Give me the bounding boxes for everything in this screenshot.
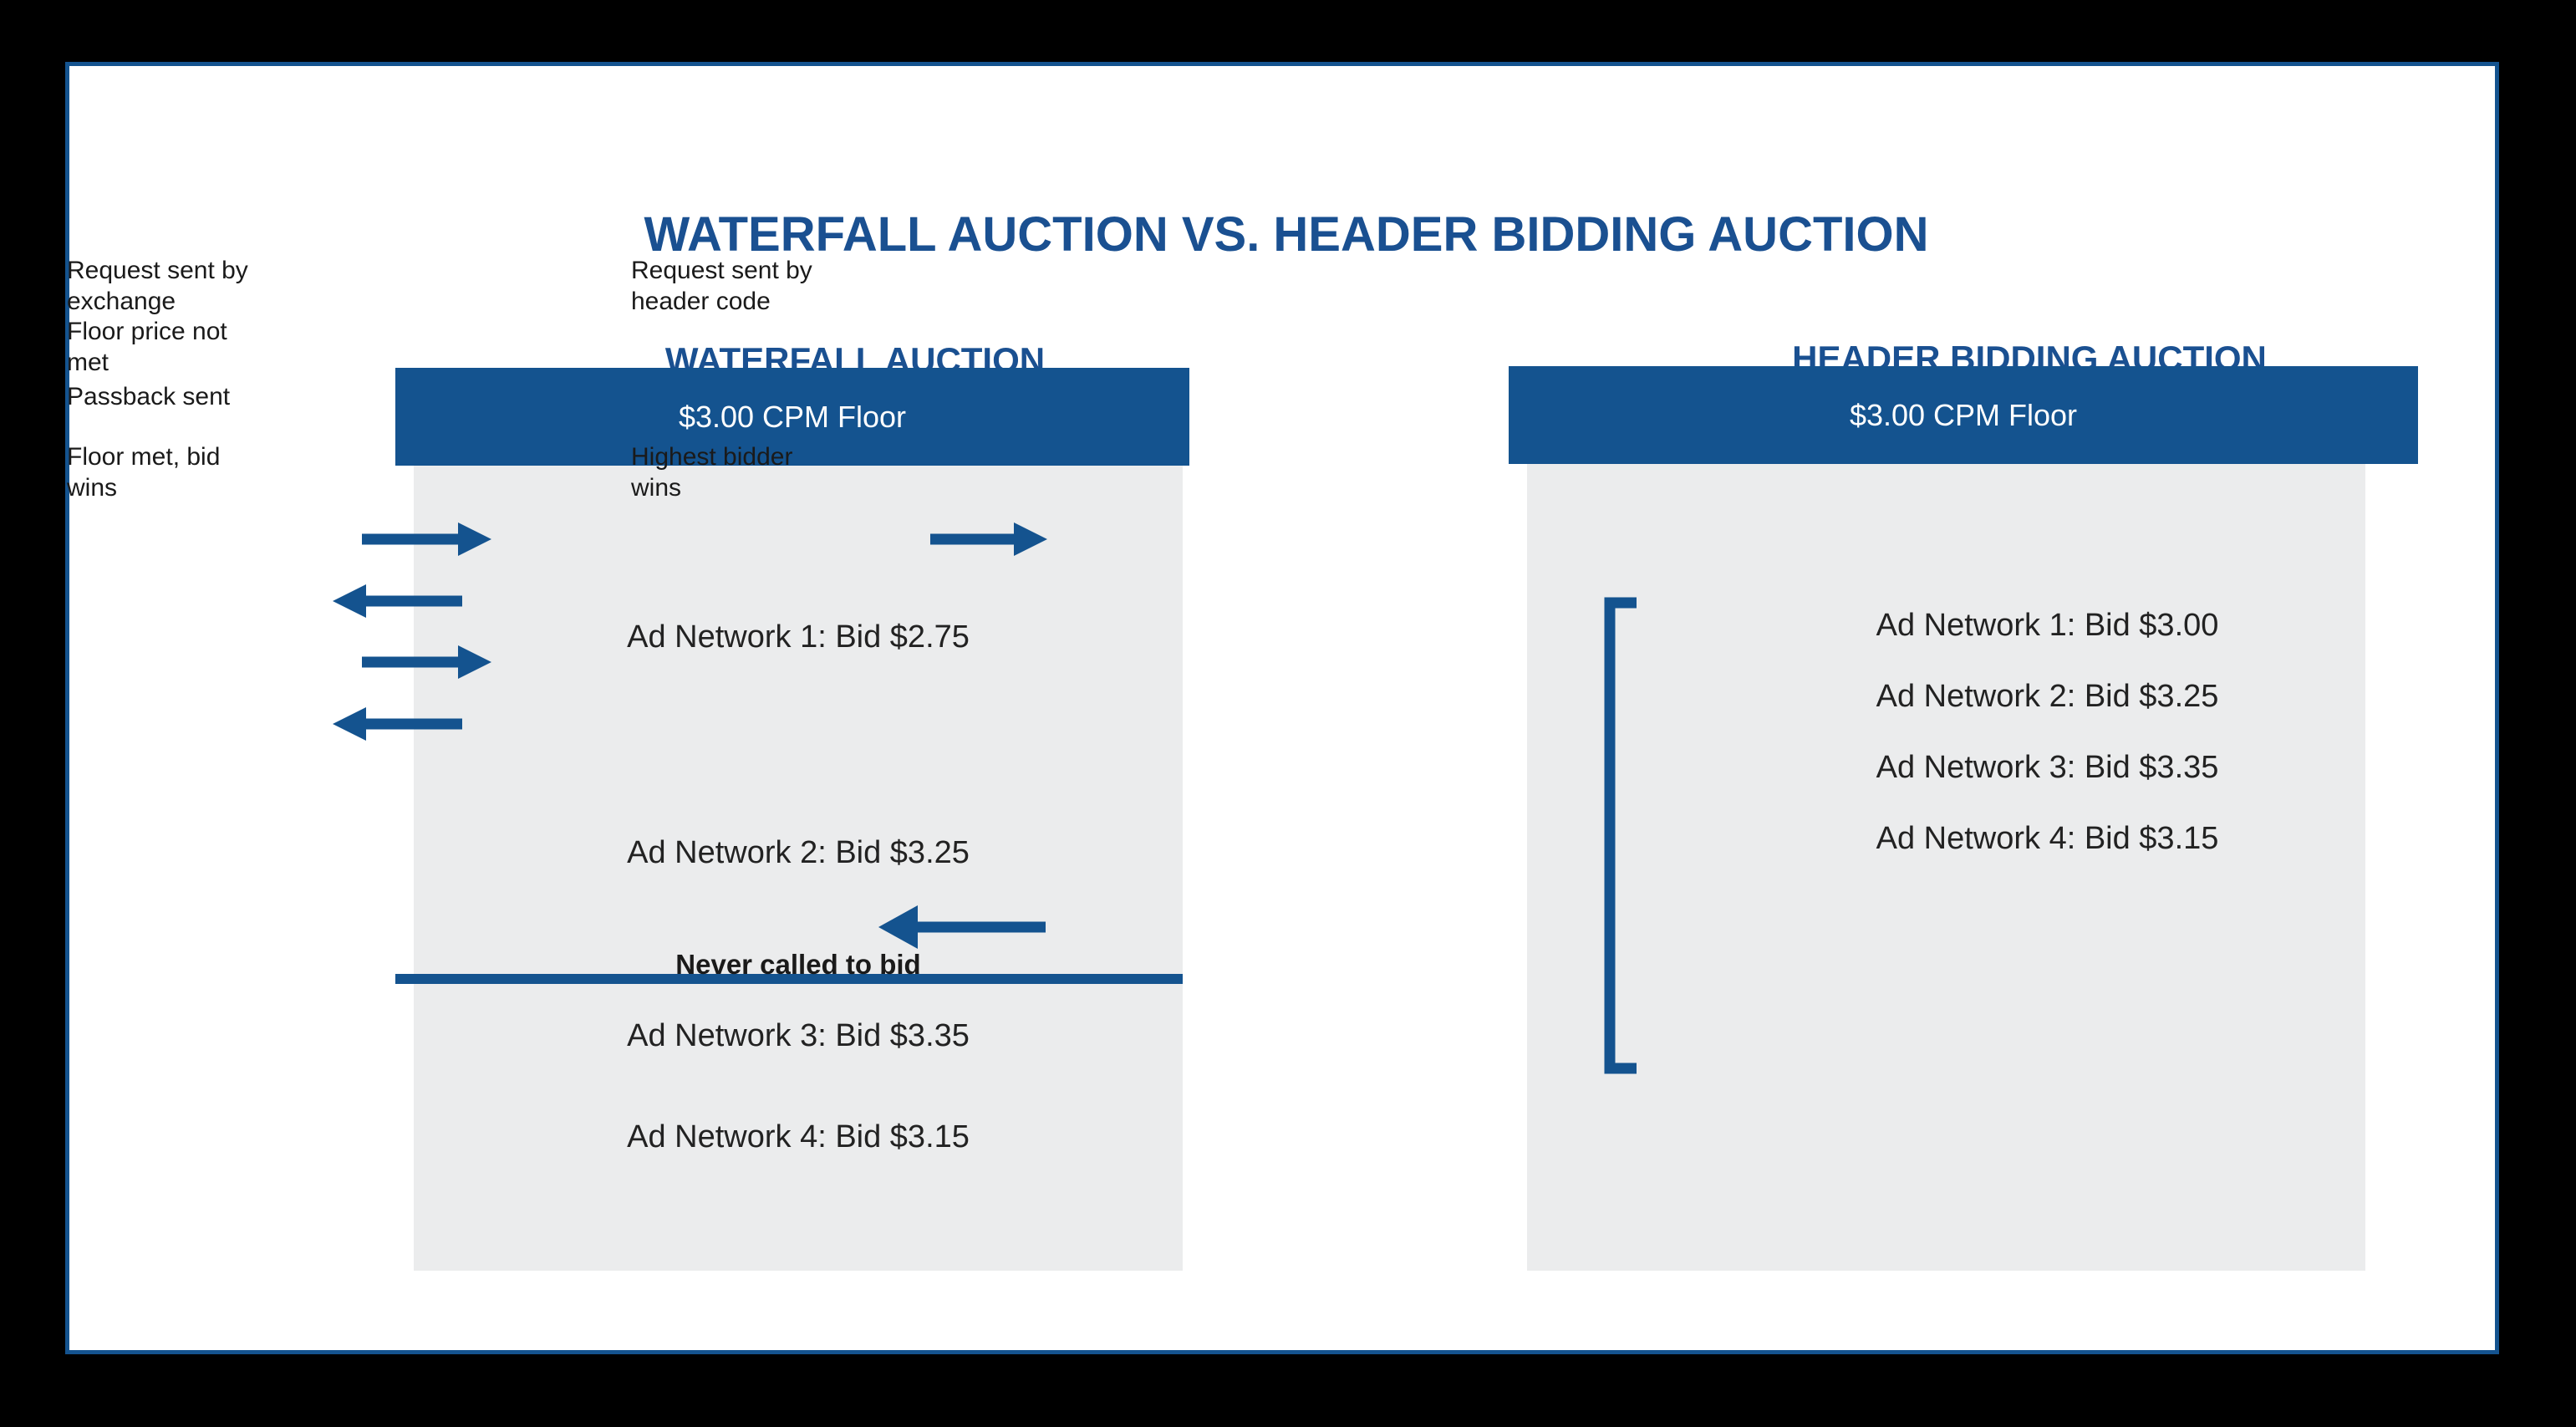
header-bidding-cpm-floor-header: $3.00 CPM Floor <box>1509 366 2418 464</box>
header-bidding-bid-row-1: Ad Network 1: Bid $3.00 <box>1628 608 2467 644</box>
waterfall-never-called-label: Never called to bid <box>414 949 1183 981</box>
slide-canvas: WATERFALL AUCTION VS. HEADER BIDDING AUC… <box>69 66 2495 1350</box>
header-bidding-bid-row-2: Ad Network 2: Bid $3.25 <box>1628 679 2467 715</box>
slide-frame: WATERFALL AUCTION VS. HEADER BIDDING AUC… <box>65 62 2499 1354</box>
waterfall-bid-row-3: Ad Network 3: Bid $3.35 <box>414 1018 1183 1054</box>
waterfall-cpm-floor-label: $3.00 CPM Floor <box>679 400 906 435</box>
waterfall-bid-row-4: Ad Network 4: Bid $3.15 <box>414 1119 1183 1155</box>
header-bidding-cpm-floor-label: $3.00 CPM Floor <box>1850 398 2077 433</box>
waterfall-bid-row-1: Ad Network 1: Bid $2.75 <box>414 619 1183 655</box>
header-bidding-bid-row-4: Ad Network 4: Bid $3.15 <box>1628 821 2467 857</box>
page-title: WATERFALL AUCTION VS. HEADER BIDDING AUC… <box>69 210 2503 261</box>
annotation-passback-sent: Passback sent <box>67 382 251 413</box>
annotation-floor-met-bid-wins: Floor met, bid wins <box>67 442 267 503</box>
annotation-request-sent-by-header-code: Request sent by header code <box>631 256 840 317</box>
annotation-floor-price-not-met: Floor price not met <box>67 317 255 378</box>
header-bidding-bid-row-3: Ad Network 3: Bid $3.35 <box>1628 750 2467 786</box>
annotation-request-sent-by-exchange: Request sent by exchange <box>67 256 259 317</box>
annotation-highest-bidder-wins: Highest bidder wins <box>631 442 811 503</box>
waterfall-bid-row-2: Ad Network 2: Bid $3.25 <box>414 835 1183 871</box>
header-bidding-panel-background <box>1527 464 2365 1271</box>
